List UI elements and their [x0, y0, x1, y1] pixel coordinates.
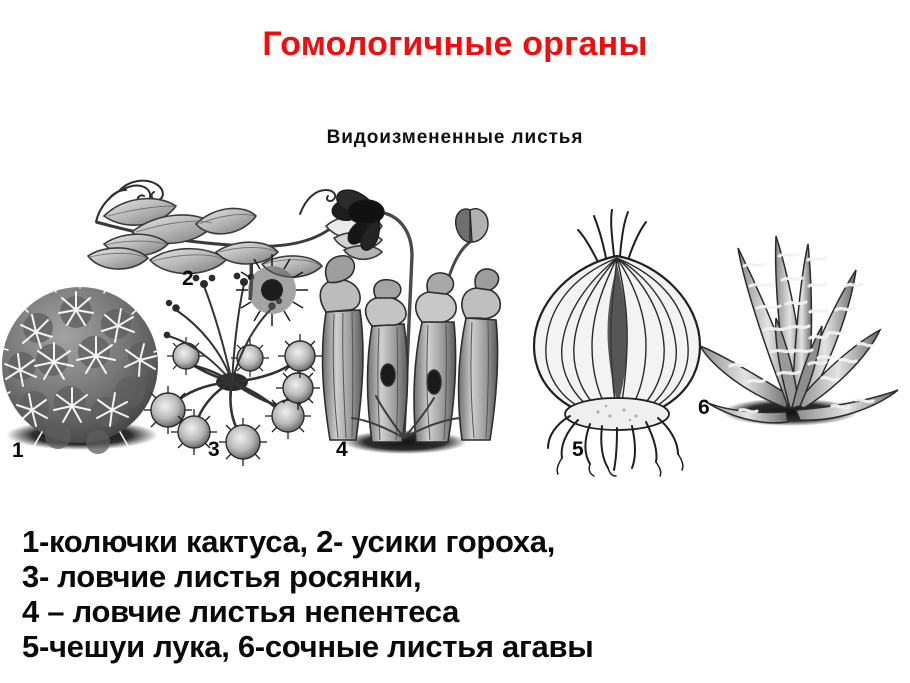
figure-number-6: 6 — [698, 396, 710, 419]
figure-onion-bulb: 5 — [534, 210, 700, 476]
figure-agave: 6 — [698, 236, 898, 426]
figure-cactus: 1 — [0, 272, 168, 462]
caption-line-4: 5-чешуи лука, 6-сочные листья агавы — [22, 629, 892, 664]
caption-line-2: 3- ловчие листья росянки, — [22, 559, 892, 594]
figure-caption-block: 1-колючки кактуса, 2- усики гороха, 3- л… — [22, 524, 892, 664]
page-title: Гомологичные органы — [0, 24, 910, 64]
illustration-plate: 1 — [0, 160, 910, 480]
figure-number-2: 2 — [182, 267, 194, 290]
slide-root: Гомологичные органы Видоизмененные листь… — [0, 0, 910, 683]
figure-sundew: 3 — [144, 254, 322, 466]
figure-number-5: 5 — [572, 438, 584, 461]
caption-line-1: 1-колючки кактуса, 2- усики гороха, — [22, 524, 892, 559]
figure-number-3: 3 — [208, 438, 220, 461]
caption-line-3: 4 – ловчие листья непентеса — [22, 594, 892, 629]
plate-subtitle: Видоизмененные листья — [0, 126, 910, 150]
figure-number-4: 4 — [336, 438, 348, 461]
figure-number-1: 1 — [12, 439, 24, 462]
